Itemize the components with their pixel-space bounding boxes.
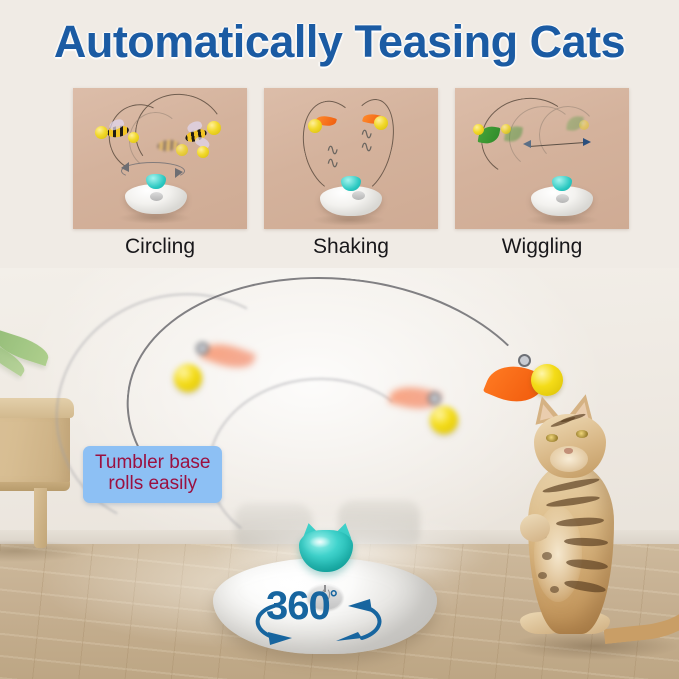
mini-power-button xyxy=(352,191,365,200)
cat-eye-left xyxy=(546,434,558,442)
circling-motion-icon xyxy=(73,88,247,229)
cat-front-paw xyxy=(520,514,550,542)
yellow-ball-icon-mid xyxy=(430,406,458,434)
vibration-lines-icon: ∿∿ xyxy=(326,144,338,170)
mini-power-button xyxy=(556,194,569,203)
mini-ball xyxy=(308,119,322,133)
callout-line-1: Tumbler base xyxy=(95,452,210,473)
cat-nose xyxy=(564,448,573,454)
bengal-cat xyxy=(498,386,679,679)
shaking-motion-icon: ∿∿ ∿∿ xyxy=(264,88,438,229)
cat-spot xyxy=(550,586,559,593)
360-value: 360° xyxy=(266,586,337,626)
cat-eye-right xyxy=(576,430,588,438)
clip-icon-right xyxy=(518,354,531,367)
360-rotation-badge: 360° xyxy=(244,588,394,650)
cabinet-leg-right xyxy=(34,488,47,548)
mini-ball xyxy=(374,116,388,130)
clip-icon-mid xyxy=(428,392,441,405)
mini-ball xyxy=(501,124,511,134)
mode-label-circling: Circling xyxy=(73,235,247,259)
cat-tail xyxy=(599,579,679,644)
mode-panel-circling[interactable]: Circling xyxy=(73,88,247,259)
yellow-ball-icon-left xyxy=(174,364,202,392)
page-title: Automatically Teasing Cats xyxy=(0,16,679,68)
mode-panel-wiggling[interactable]: Wiggling xyxy=(455,88,629,259)
product-marketing-image: 360° Tumbler base rolls easily Automatic… xyxy=(0,0,679,679)
cat-spot xyxy=(538,572,547,579)
mode-panel-shaking[interactable]: ∿∿ ∿∿ Shaking xyxy=(264,88,438,259)
tumbler-callout-badge: Tumbler base rolls easily xyxy=(83,446,222,503)
mini-power-button xyxy=(150,192,163,201)
vibration-lines-icon: ∿∿ xyxy=(360,128,372,154)
mode-label-shaking: Shaking xyxy=(264,235,438,259)
wiggle-arrow-right xyxy=(583,138,591,146)
wiggle-arrow-left xyxy=(523,140,531,148)
cat-spot xyxy=(542,552,552,560)
callout-line-2: rolls easily xyxy=(95,473,210,494)
clip-icon-left xyxy=(196,342,209,355)
wiggling-motion-icon xyxy=(455,88,629,229)
mode-label-wiggling: Wiggling xyxy=(455,235,629,259)
mode-panels: Circling ∿∿ ∿∿ Shaking xyxy=(0,88,679,268)
cat-head-gloss xyxy=(309,536,331,548)
mini-ball xyxy=(473,124,484,135)
mini-ball xyxy=(579,120,589,130)
